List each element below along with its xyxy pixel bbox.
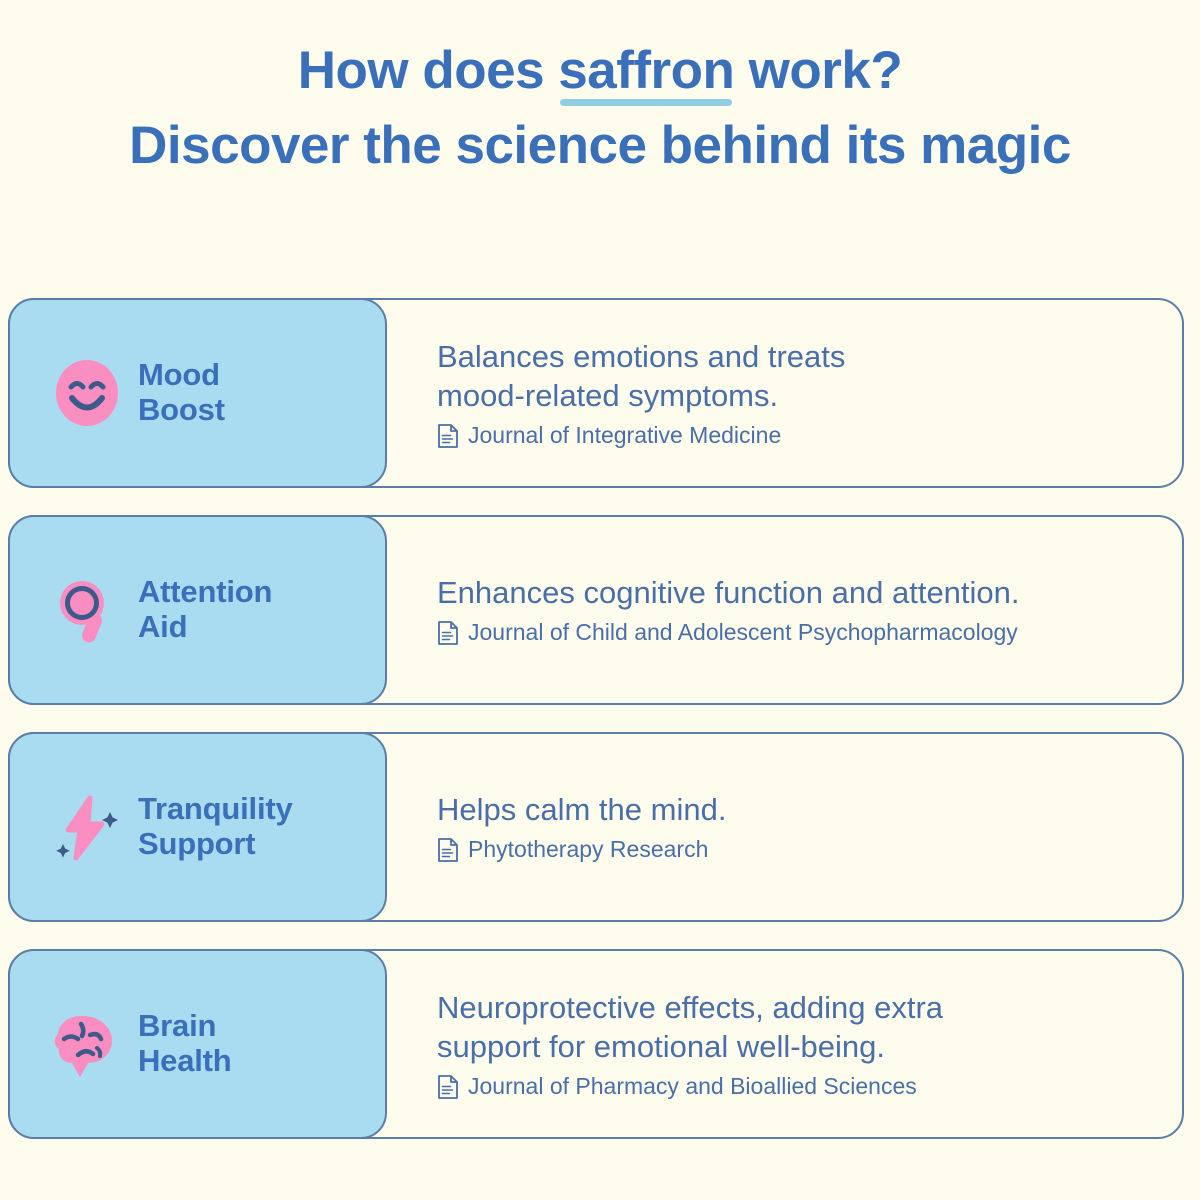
card-right-content: Balances emotions and treats mood-relate… xyxy=(387,300,1182,486)
benefit-card: Mood Boost Balances emotions and treats … xyxy=(8,298,1184,488)
document-icon xyxy=(437,837,459,863)
brain-icon xyxy=(50,1007,124,1081)
card-source: Journal of Integrative Medicine xyxy=(437,422,1158,450)
card-source-label: Phytotherapy Research xyxy=(468,836,708,864)
infographic-page: How does saffron work? Discover the scie… xyxy=(0,0,1200,1200)
card-description: Neuroprotective effects, adding extra su… xyxy=(437,988,1158,1067)
card-description: Helps calm the mind. xyxy=(437,790,1158,830)
title-text-after: work? xyxy=(734,41,902,100)
card-source: Journal of Pharmacy and Bioallied Scienc… xyxy=(437,1073,1158,1101)
title-highlight-saffron: saffron xyxy=(558,44,734,99)
document-icon xyxy=(437,423,459,449)
benefit-card: Attention Aid Enhances cognitive functio… xyxy=(8,515,1184,705)
title-text-before: How does xyxy=(298,41,559,100)
card-source: Phytotherapy Research xyxy=(437,836,1158,864)
card-left-panel: Mood Boost xyxy=(8,298,387,488)
card-right-content: Helps calm the mind. Phytotherapy Resear… xyxy=(387,734,1182,920)
card-left-panel: Attention Aid xyxy=(8,515,387,705)
card-left-panel: Brain Health xyxy=(8,949,387,1139)
benefit-card: Brain Health Neuroprotective effects, ad… xyxy=(8,949,1184,1139)
benefit-card: Tranquility Support Helps calm the mind.… xyxy=(8,732,1184,922)
card-source-label: Journal of Integrative Medicine xyxy=(468,422,781,450)
card-left-panel: Tranquility Support xyxy=(8,732,387,922)
card-source: Journal of Child and Adolescent Psychoph… xyxy=(437,619,1158,647)
magnifying-glass-icon xyxy=(50,573,124,647)
title-highlight-text: saffron xyxy=(558,41,734,100)
page-title-line-2: Discover the science behind its magic xyxy=(0,119,1200,172)
card-right-content: Neuroprotective effects, adding extra su… xyxy=(387,951,1182,1137)
saffron-underline xyxy=(560,99,732,106)
card-right-content: Enhances cognitive function and attentio… xyxy=(387,517,1182,703)
header: How does saffron work? Discover the scie… xyxy=(0,0,1200,172)
page-title-line-1: How does saffron work? xyxy=(0,44,1200,99)
card-source-label: Journal of Child and Adolescent Psychoph… xyxy=(468,619,1018,647)
card-label: Mood Boost xyxy=(138,358,225,427)
card-label: Attention Aid xyxy=(138,575,272,644)
card-description: Enhances cognitive function and attentio… xyxy=(437,573,1158,613)
card-description: Balances emotions and treats mood-relate… xyxy=(437,337,1158,416)
benefit-card-list: Mood Boost Balances emotions and treats … xyxy=(8,298,1184,1166)
document-icon xyxy=(437,1074,459,1100)
card-source-label: Journal of Pharmacy and Bioallied Scienc… xyxy=(468,1073,917,1101)
card-label: Brain Health xyxy=(138,1009,232,1078)
smiley-face-icon xyxy=(50,356,124,430)
document-icon xyxy=(437,620,459,646)
card-label: Tranquility Support xyxy=(138,792,293,861)
lightning-bolt-icon xyxy=(50,790,124,864)
